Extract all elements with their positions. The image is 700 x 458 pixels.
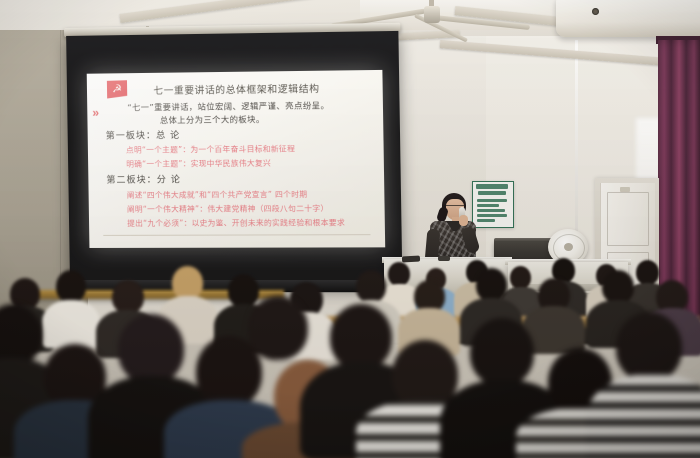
slide-section-1-item-2: 明确“一个主题”：实现中华民族伟大复兴 [126,157,271,169]
slide-title: 七一重要讲话的总体框架和逻辑结构 [153,81,320,97]
audience-head [118,314,184,384]
emblem-symbol: ☭ [111,83,123,95]
presentation-slide: ☭ » 七一重要讲话的总体框架和逻辑结构 “七一”重要讲话，站位宏阔、逻辑严谨、… [87,70,385,248]
projector-icon [556,0,700,37]
slide-section-2-item-1: 阐述“四个伟大成就”和“四个共产党宣言” 四个时期 [127,189,308,201]
presenter-hand [459,215,468,226]
door-panel [607,192,649,246]
slide-section-2-item-3: 提出“九个必须”：以史为鉴、开创未来的实践经验和根本要求 [127,217,345,229]
audience-head [330,304,392,370]
slide-section-1-heading: 第一板块：总 论 [106,128,181,142]
slide-section-2-heading: 第二板块：分 论 [106,172,181,186]
desk-fan-hub [564,243,573,251]
screen-surface: ☭ » 七一重要讲话的总体框架和逻辑结构 “七一”重要讲话，站位宏阔、逻辑严谨、… [66,31,402,286]
projection-screen: ☭ » 七一重要讲话的总体框架和逻辑结构 “七一”重要讲话，站位宏阔、逻辑严谨、… [64,23,405,294]
chevron-right-icon: » [92,106,96,120]
fan-hub [424,6,440,23]
cpc-emblem-icon: ☭ [107,80,127,98]
door-plate [620,187,630,192]
audience-head [356,270,386,303]
audience-head [476,268,507,302]
projector-lens [592,8,599,15]
audience-head [616,312,682,382]
slide-section-2-item-2: 阐明“一个伟大精神”：伟大建党精神（四段八句二十字） [127,203,329,215]
notice-board-header [476,184,508,189]
audience-head [56,270,86,303]
audience-shoulders [586,374,700,458]
audience-front-rows [0,300,700,458]
audience-head [248,296,308,360]
audience-head [0,304,42,366]
audience-head [470,318,534,386]
slide-lead-line-2: 总体上分为三个大的板块。 [160,113,265,126]
audience-head [602,270,634,304]
slide-divider [103,234,370,236]
slide-lead-line-1: “七一”重要讲话，站位宏阔、逻辑严谨、亮点纷呈。 [127,99,329,113]
slide-section-1-item-1: 点明“一个主题”：为一个百年奋斗目标和新征程 [126,143,295,155]
lecture-hall-photo: ☭ » 七一重要讲话的总体框架和逻辑结构 “七一”重要讲话，站位宏阔、逻辑严谨、… [0,0,700,458]
audience-head [172,266,203,300]
